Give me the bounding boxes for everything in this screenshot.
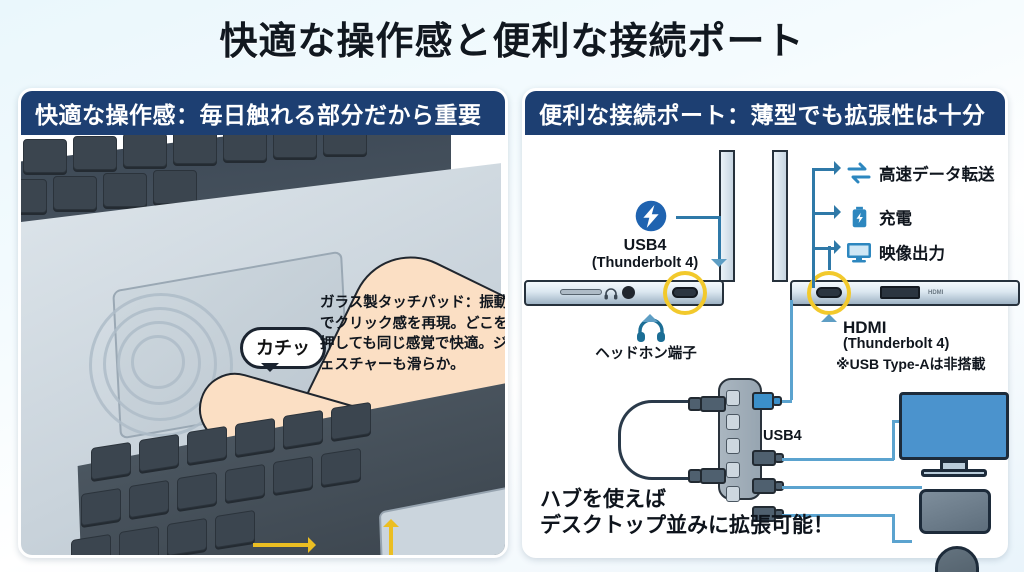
panel-left-header: 快適な操作感：毎日触れる部分だから重要	[21, 91, 505, 135]
keyboard-callout-arrow	[253, 543, 313, 547]
click-sound-bubble: カチッ	[240, 327, 326, 369]
panel-comfortable-operation: 快適な操作感：毎日触れる部分だから重要	[18, 88, 508, 558]
panel-left-body: カチッ ガラス製タッチパッド：振動でクリック感を再現。どこを押しても同じ感覚で快…	[21, 135, 505, 558]
keycap-up-arrow	[389, 523, 393, 558]
panel-right-header: 便利な接続ポート：薄型でも拡張性は十分	[525, 91, 1005, 135]
panel-right-body	[525, 135, 1005, 558]
page-title: 快適な操作感と便利な接続ポート	[0, 10, 1024, 65]
panel-connection-ports: 便利な接続ポート：薄型でも拡張性は十分	[522, 88, 1008, 558]
touchpad-annotation: ガラス製タッチパッド：振動でクリック感を再現。どこを押しても同じ感覚で快適。ジェ…	[320, 293, 508, 375]
